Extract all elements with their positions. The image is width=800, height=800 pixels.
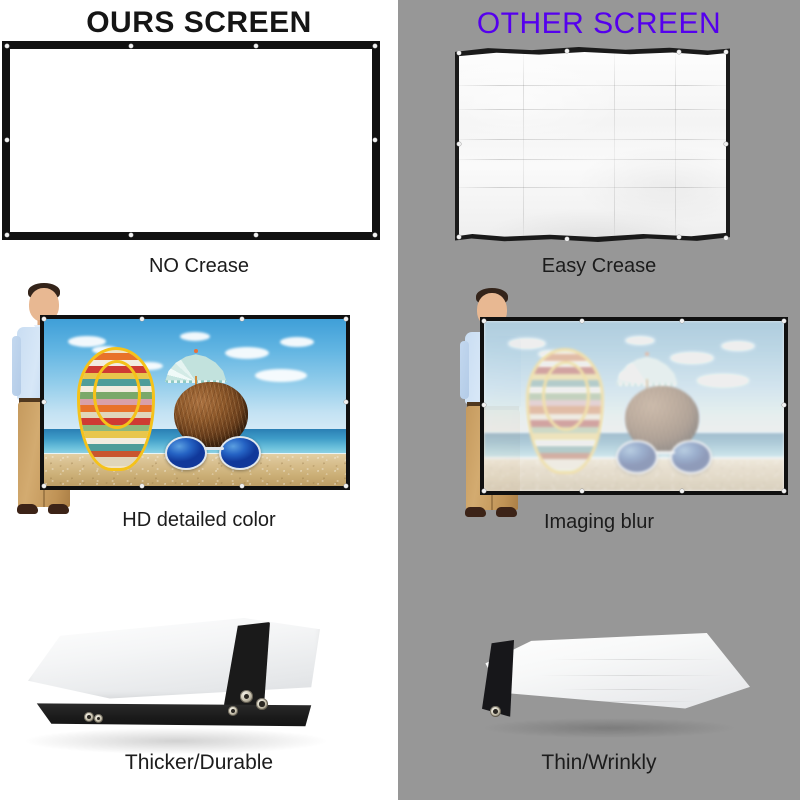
grommet-icon (782, 319, 786, 323)
grommet-icon (457, 235, 461, 239)
grommet-icon (240, 484, 244, 488)
folded-thick-screen (28, 618, 320, 740)
grommet-icon (42, 484, 46, 488)
grommet-icon (140, 484, 144, 488)
caption-imaging-blur: Imaging blur (398, 512, 800, 532)
panel-bottom-left: Thicker/Durable (0, 540, 398, 800)
grommet-icon (254, 44, 258, 48)
grommet-icon (724, 236, 728, 240)
grommet-icon (680, 319, 684, 323)
held-screen-blurred (480, 317, 788, 495)
panel-top-right: OTHER SCREEN (398, 0, 800, 280)
grommet-icon (140, 317, 144, 321)
caption-no-crease: NO Crease (0, 256, 398, 276)
caption-thicker-durable: Thicker/Durable (0, 752, 398, 773)
eyelet-icon (240, 690, 253, 703)
held-screen-sharp (40, 315, 350, 490)
folded-thin-screen (480, 632, 750, 730)
grommet-icon (5, 44, 9, 48)
grommet-icon (5, 138, 9, 142)
grommet-icon (129, 233, 133, 237)
eyelet-icon (490, 706, 501, 717)
grommet-icon (373, 44, 377, 48)
flat-screen-graphic (2, 41, 380, 240)
thin-fabric-sheet (480, 632, 750, 730)
sunglasses-icon (165, 436, 261, 470)
grommet-icon (580, 489, 584, 493)
flat-screen-surface (10, 49, 372, 232)
grommet-icon (42, 400, 46, 404)
grommet-icon (457, 142, 461, 146)
flip-flop-icon (526, 348, 604, 474)
beach-scene-image (44, 319, 346, 486)
panel-middle-left: HD detailed color (0, 280, 398, 540)
cocktail-umbrella-icon (165, 352, 227, 382)
other-screen-title: OTHER SCREEN (398, 9, 800, 39)
grommet-icon (565, 237, 569, 241)
grommet-icon (240, 317, 244, 321)
cocktail-umbrella-icon (616, 355, 678, 385)
grommet-icon (482, 319, 486, 323)
projection-surface-sharp (44, 319, 346, 486)
ours-screen-title: OURS SCREEN (0, 8, 398, 38)
fabric-shading (459, 52, 726, 237)
eyelet-icon (94, 714, 103, 723)
grommet-icon (344, 484, 348, 488)
sunglasses-icon (616, 440, 712, 474)
wrinkly-screen-graphic (455, 47, 730, 242)
panel-top-left: OURS SCREEN NO Crease (0, 0, 398, 280)
comparison-infographic: OURS SCREEN NO Crease OTHER SCREEN (0, 0, 800, 800)
grommet-icon (373, 233, 377, 237)
beach-scene-image (484, 321, 784, 491)
panel-middle-right: Imaging blur (398, 280, 800, 540)
wrinkly-screen-surface (459, 52, 726, 237)
grommet-icon (677, 235, 681, 239)
eyelet-icon (256, 698, 268, 710)
grommet-icon (129, 44, 133, 48)
grommet-icon (724, 50, 728, 54)
projection-surface-blurred (484, 321, 784, 491)
grommet-icon (457, 51, 461, 55)
grommet-icon (782, 489, 786, 493)
grommet-icon (677, 50, 681, 54)
folded-fabric-bottom-layers (28, 703, 320, 735)
grommet-icon (680, 489, 684, 493)
grommet-icon (42, 317, 46, 321)
eyelet-icon (228, 706, 238, 716)
grommet-icon (344, 400, 348, 404)
panel-bottom-right: Thin/Wrinkly (398, 540, 800, 800)
caption-thin-wrinkly: Thin/Wrinkly (398, 752, 800, 773)
grommet-icon (5, 233, 9, 237)
grommet-icon (724, 142, 728, 146)
grommet-icon (482, 489, 486, 493)
grommet-icon (254, 233, 258, 237)
grommet-icon (482, 403, 486, 407)
flip-flop-icon (77, 347, 155, 471)
grommet-icon (344, 317, 348, 321)
grommet-icon (373, 138, 377, 142)
grommet-icon (580, 319, 584, 323)
eyelet-icon (84, 712, 94, 722)
caption-easy-crease: Easy Crease (398, 256, 800, 276)
grommet-icon (782, 403, 786, 407)
folded-fabric-top (28, 618, 320, 699)
caption-hd-detailed-color: HD detailed color (0, 510, 398, 530)
grommet-icon (565, 49, 569, 53)
